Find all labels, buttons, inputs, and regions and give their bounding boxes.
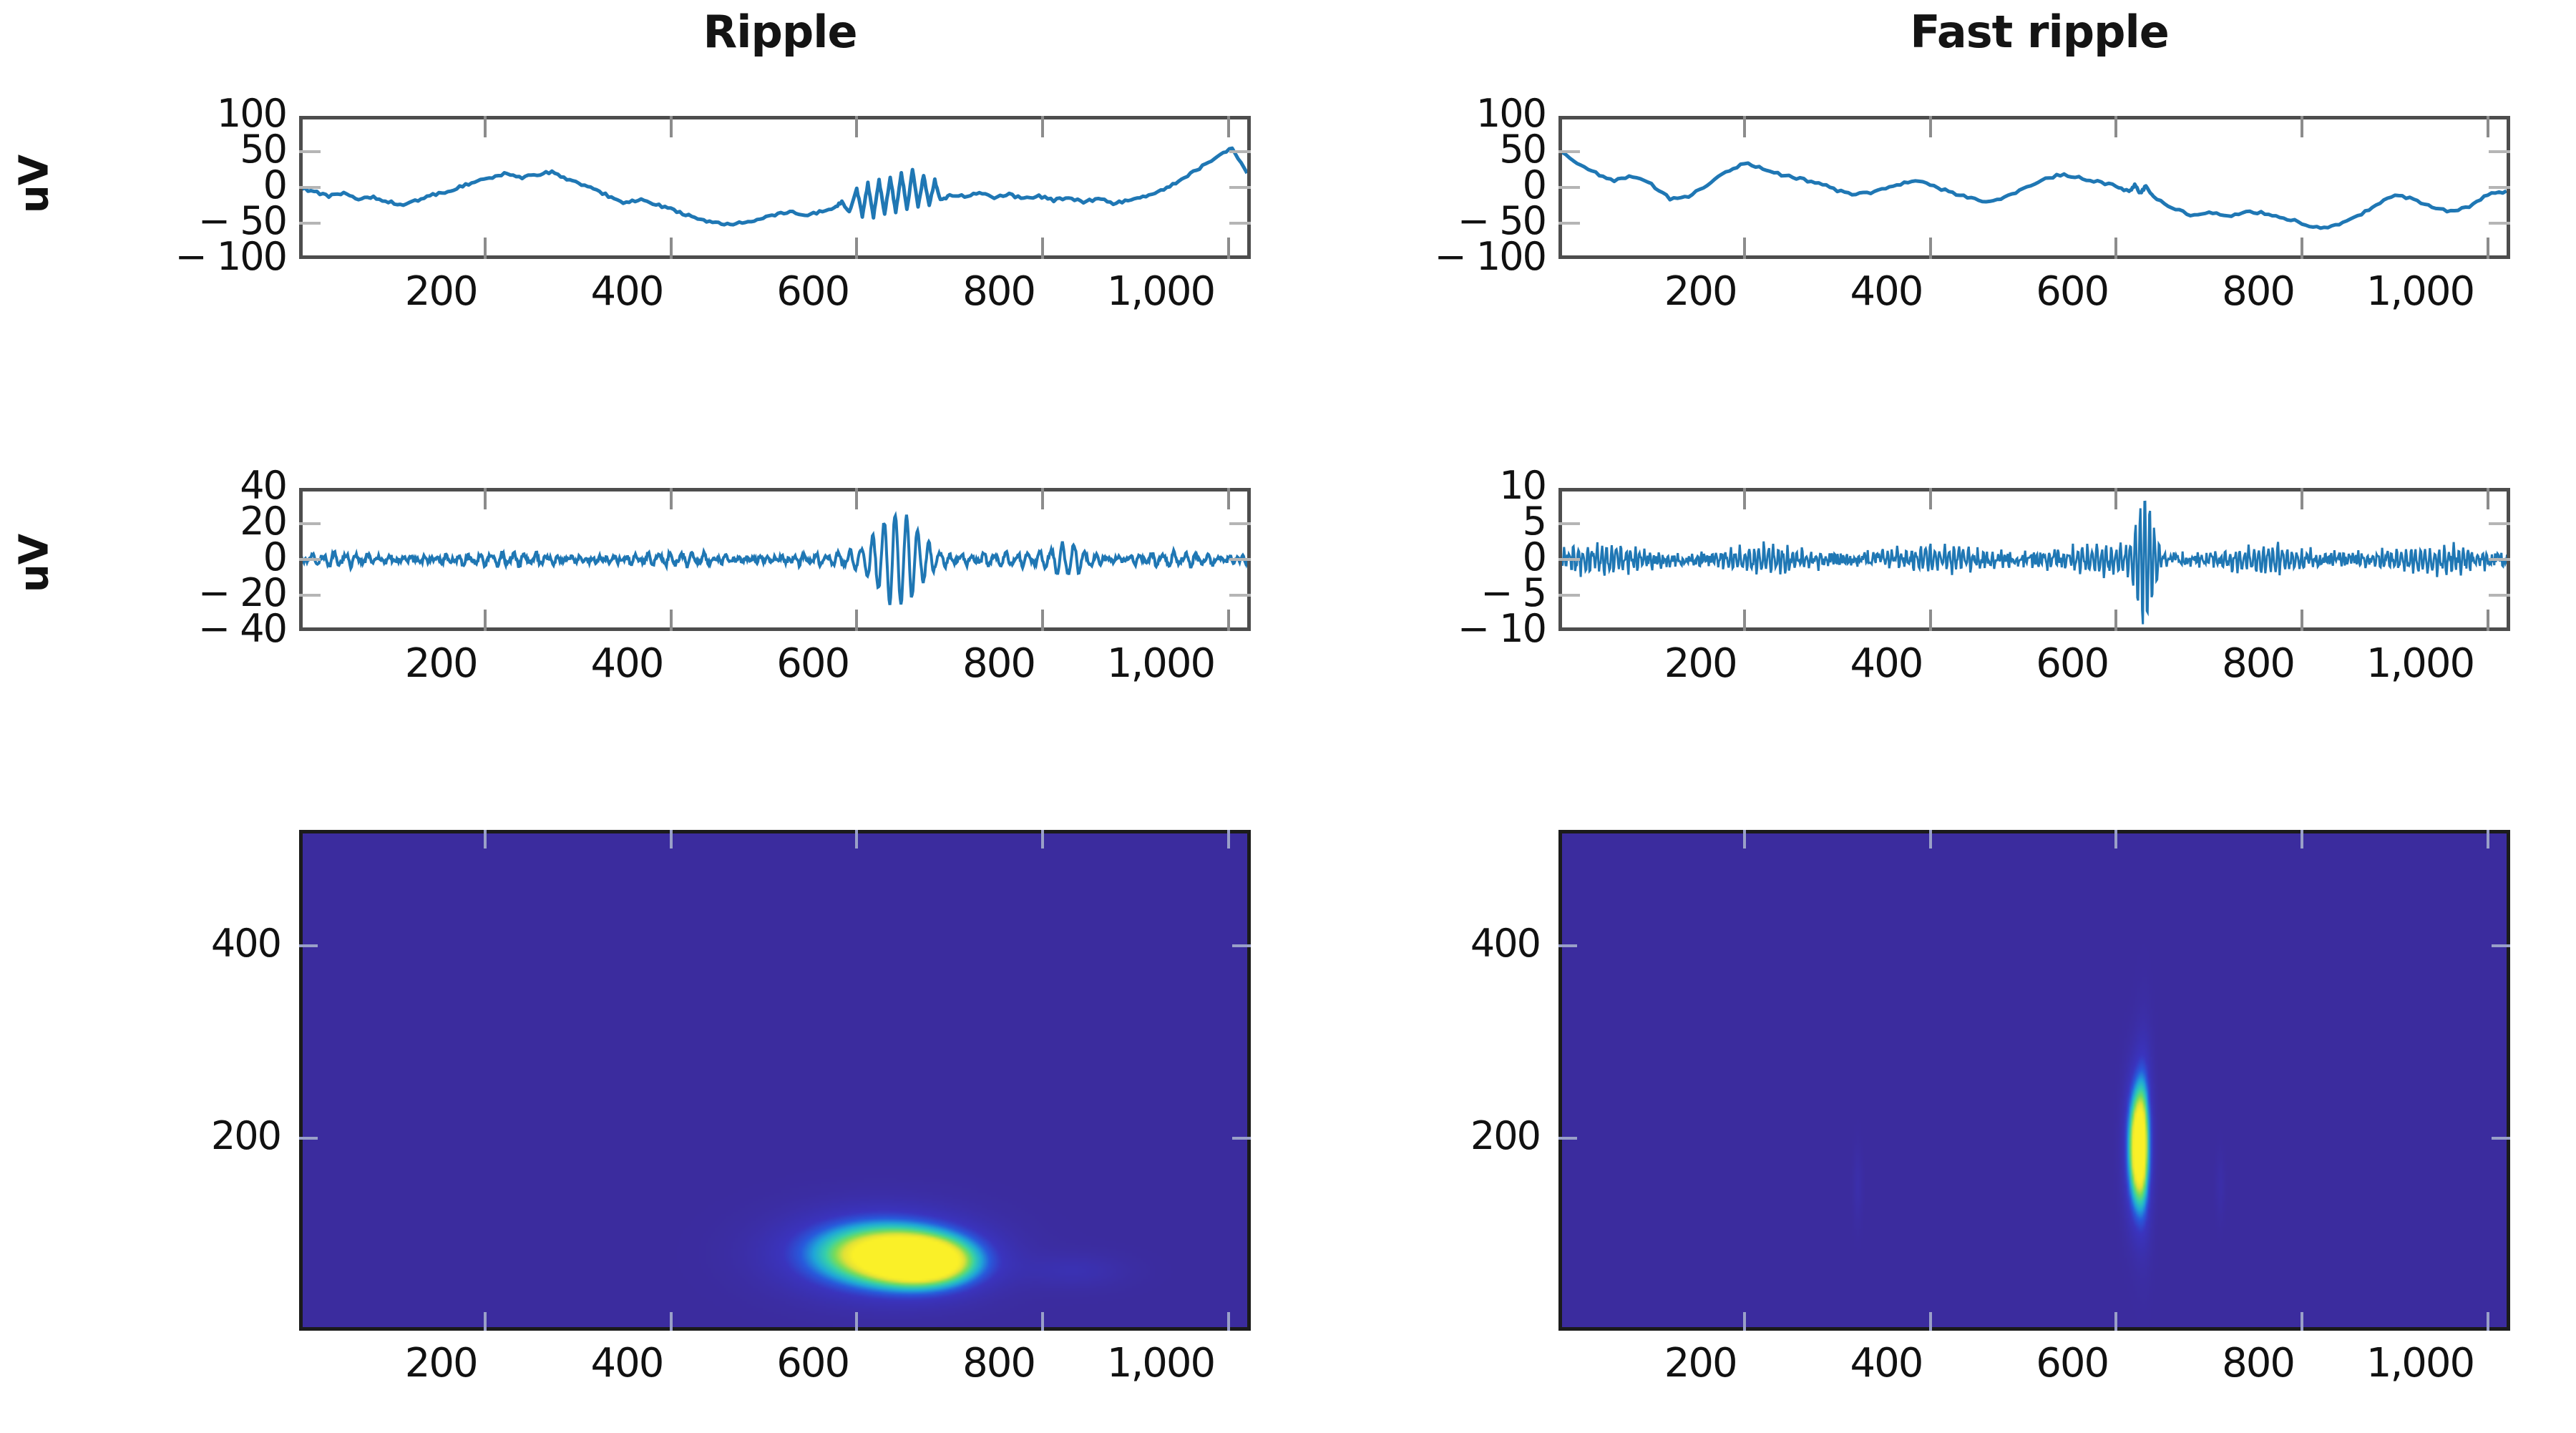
y-axis-name-filtered-ripple: uV bbox=[11, 499, 58, 628]
x-tick-mark bbox=[1227, 1312, 1230, 1331]
y-tick-mark bbox=[299, 558, 321, 561]
y-tick-label: − 100 bbox=[1435, 238, 1546, 276]
x-tick-mark bbox=[1929, 238, 1932, 259]
x-tick-mark bbox=[2487, 238, 2489, 259]
x-tick-mark bbox=[855, 238, 858, 259]
x-tick-label: 800 bbox=[962, 1344, 1035, 1384]
x-tick-mark bbox=[1929, 116, 1932, 137]
x-tick-mark bbox=[1743, 238, 1746, 259]
x-tick-label: 800 bbox=[2222, 272, 2294, 312]
y-tick-mark bbox=[2489, 558, 2510, 561]
plot-frame bbox=[299, 830, 1251, 1331]
x-tick-label: 600 bbox=[2036, 644, 2108, 684]
y-tick-mark bbox=[2492, 1137, 2510, 1140]
x-tick-mark bbox=[2114, 116, 2117, 137]
plot-frame bbox=[299, 116, 1251, 259]
x-tick-label: 200 bbox=[405, 272, 477, 312]
y-tick-label: − 100 bbox=[175, 238, 286, 276]
y-tick-mark bbox=[1229, 186, 1251, 189]
x-tick-mark bbox=[2487, 1312, 2489, 1331]
x-tick-mark bbox=[855, 610, 858, 631]
x-tick-mark bbox=[1041, 116, 1044, 137]
x-tick-label: 600 bbox=[776, 272, 849, 312]
x-tick-label: 1,000 bbox=[1107, 1344, 1214, 1384]
y-tick-mark bbox=[1229, 150, 1251, 153]
x-tick-label: 600 bbox=[776, 1344, 849, 1384]
x-tick-mark bbox=[670, 610, 673, 631]
y-tick-mark bbox=[1229, 558, 1251, 561]
x-tick-mark bbox=[2114, 488, 2117, 509]
panel-fast-ripple-filtered bbox=[1558, 488, 2510, 631]
x-tick-mark bbox=[1227, 488, 1230, 509]
x-tick-mark bbox=[1929, 488, 1932, 509]
x-tick-label: 400 bbox=[591, 272, 663, 312]
x-tick-label: 1,000 bbox=[2366, 272, 2474, 312]
column-title-fast-ripple: Fast ripple bbox=[1567, 6, 2512, 58]
x-tick-mark bbox=[484, 116, 487, 137]
x-tick-mark bbox=[2487, 488, 2489, 509]
y-tick-mark bbox=[299, 1137, 318, 1140]
x-tick-mark bbox=[1227, 830, 1230, 848]
x-tick-label: 400 bbox=[1850, 644, 1923, 684]
y-tick-mark bbox=[1229, 594, 1251, 597]
y-axis-name-raw-ripple: uV bbox=[11, 120, 58, 249]
x-tick-label: 600 bbox=[2036, 1344, 2108, 1384]
x-tick-mark bbox=[1743, 610, 1746, 631]
panel-ripple-raw bbox=[299, 116, 1251, 259]
y-tick-mark bbox=[299, 594, 321, 597]
x-tick-label: 1,000 bbox=[2366, 644, 2474, 684]
x-tick-label: 400 bbox=[591, 1344, 663, 1384]
x-tick-mark bbox=[1041, 830, 1044, 848]
figure-root: Ripple Fast ripple uV uV 2004006008001,0… bbox=[0, 0, 2576, 1433]
x-tick-mark bbox=[1743, 830, 1746, 848]
x-tick-mark bbox=[1227, 610, 1230, 631]
x-tick-mark bbox=[484, 238, 487, 259]
x-tick-mark bbox=[2114, 830, 2117, 848]
y-tick-mark bbox=[2489, 222, 2510, 225]
y-tick-mark bbox=[1558, 558, 1580, 561]
y-tick-mark bbox=[1558, 1137, 1577, 1140]
y-tick-mark bbox=[1229, 222, 1251, 225]
y-tick-mark bbox=[299, 186, 321, 189]
x-tick-mark bbox=[2114, 238, 2117, 259]
y-tick-mark bbox=[299, 944, 318, 947]
x-tick-mark bbox=[2301, 1312, 2303, 1331]
y-tick-mark bbox=[299, 150, 321, 153]
x-tick-label: 600 bbox=[2036, 272, 2108, 312]
x-tick-mark bbox=[2487, 116, 2489, 137]
x-tick-mark bbox=[1929, 830, 1932, 848]
x-tick-mark bbox=[2301, 830, 2303, 848]
x-tick-label: 200 bbox=[405, 1344, 477, 1384]
x-tick-mark bbox=[2301, 488, 2303, 509]
y-tick-mark bbox=[2489, 150, 2510, 153]
x-tick-label: 1,000 bbox=[1107, 272, 1214, 312]
x-tick-mark bbox=[670, 830, 673, 848]
x-tick-mark bbox=[2301, 116, 2303, 137]
y-tick-mark bbox=[299, 522, 321, 525]
x-tick-mark bbox=[1929, 1312, 1932, 1331]
x-tick-label: 200 bbox=[1664, 644, 1737, 684]
x-tick-mark bbox=[484, 1312, 487, 1331]
x-tick-mark bbox=[484, 488, 487, 509]
x-tick-mark bbox=[855, 830, 858, 848]
plot-frame bbox=[1558, 830, 2510, 1331]
plot-frame bbox=[299, 488, 1251, 631]
x-tick-mark bbox=[855, 116, 858, 137]
plot-frame bbox=[1558, 488, 2510, 631]
y-tick-label: 400 bbox=[211, 924, 280, 963]
y-tick-mark bbox=[2489, 186, 2510, 189]
y-tick-mark bbox=[1558, 944, 1577, 947]
x-tick-mark bbox=[1227, 116, 1230, 137]
y-tick-mark bbox=[2489, 594, 2510, 597]
y-tick-mark bbox=[1558, 150, 1580, 153]
y-tick-label: 200 bbox=[211, 1117, 280, 1155]
y-tick-mark bbox=[1232, 944, 1251, 947]
x-tick-label: 800 bbox=[962, 644, 1035, 684]
x-tick-mark bbox=[1929, 610, 1932, 631]
x-tick-mark bbox=[2114, 610, 2117, 631]
y-tick-mark bbox=[1558, 186, 1580, 189]
y-tick-mark bbox=[1558, 522, 1580, 525]
x-tick-label: 600 bbox=[776, 644, 849, 684]
y-tick-mark bbox=[1558, 594, 1580, 597]
x-tick-mark bbox=[1041, 488, 1044, 509]
x-tick-label: 800 bbox=[962, 272, 1035, 312]
y-tick-mark bbox=[2489, 522, 2510, 525]
x-tick-mark bbox=[855, 1312, 858, 1331]
x-tick-mark bbox=[484, 610, 487, 631]
y-tick-mark bbox=[299, 222, 321, 225]
x-tick-mark bbox=[1041, 1312, 1044, 1331]
y-tick-mark bbox=[1229, 522, 1251, 525]
x-tick-mark bbox=[670, 1312, 673, 1331]
x-tick-label: 400 bbox=[1850, 1344, 1923, 1384]
x-tick-mark bbox=[484, 830, 487, 848]
x-tick-mark bbox=[1743, 1312, 1746, 1331]
x-tick-mark bbox=[670, 488, 673, 509]
x-tick-mark bbox=[855, 488, 858, 509]
x-tick-mark bbox=[2487, 830, 2489, 848]
x-tick-label: 800 bbox=[2222, 1344, 2294, 1384]
x-tick-label: 1,000 bbox=[1107, 644, 1214, 684]
x-tick-mark bbox=[1743, 488, 1746, 509]
x-tick-label: 200 bbox=[1664, 272, 1737, 312]
x-tick-mark bbox=[1041, 238, 1044, 259]
x-tick-mark bbox=[2301, 610, 2303, 631]
panel-fast-ripple-spectrogram bbox=[1558, 830, 2510, 1331]
y-tick-label: 200 bbox=[1470, 1117, 1540, 1155]
x-tick-label: 400 bbox=[1850, 272, 1923, 312]
y-tick-label: 400 bbox=[1470, 924, 1540, 963]
y-tick-label: − 40 bbox=[198, 610, 286, 648]
x-tick-label: 400 bbox=[591, 644, 663, 684]
x-tick-label: 1,000 bbox=[2366, 1344, 2474, 1384]
x-tick-mark bbox=[1743, 116, 1746, 137]
panel-ripple-filtered bbox=[299, 488, 1251, 631]
plot-frame bbox=[1558, 116, 2510, 259]
x-tick-label: 800 bbox=[2222, 644, 2294, 684]
y-tick-mark bbox=[1232, 1137, 1251, 1140]
y-tick-mark bbox=[1558, 222, 1580, 225]
x-tick-label: 200 bbox=[405, 644, 477, 684]
x-tick-mark bbox=[670, 116, 673, 137]
y-tick-mark bbox=[2492, 944, 2510, 947]
panel-ripple-spectrogram bbox=[299, 830, 1251, 1331]
x-tick-mark bbox=[2114, 1312, 2117, 1331]
column-title-ripple: Ripple bbox=[308, 6, 1252, 58]
x-tick-mark bbox=[1041, 610, 1044, 631]
x-tick-mark bbox=[670, 238, 673, 259]
panel-fast-ripple-raw bbox=[1558, 116, 2510, 259]
x-tick-mark bbox=[2301, 238, 2303, 259]
x-tick-label: 200 bbox=[1664, 1344, 1737, 1384]
x-tick-mark bbox=[2487, 610, 2489, 631]
y-tick-label: − 10 bbox=[1458, 610, 1546, 648]
x-tick-mark bbox=[1227, 238, 1230, 259]
